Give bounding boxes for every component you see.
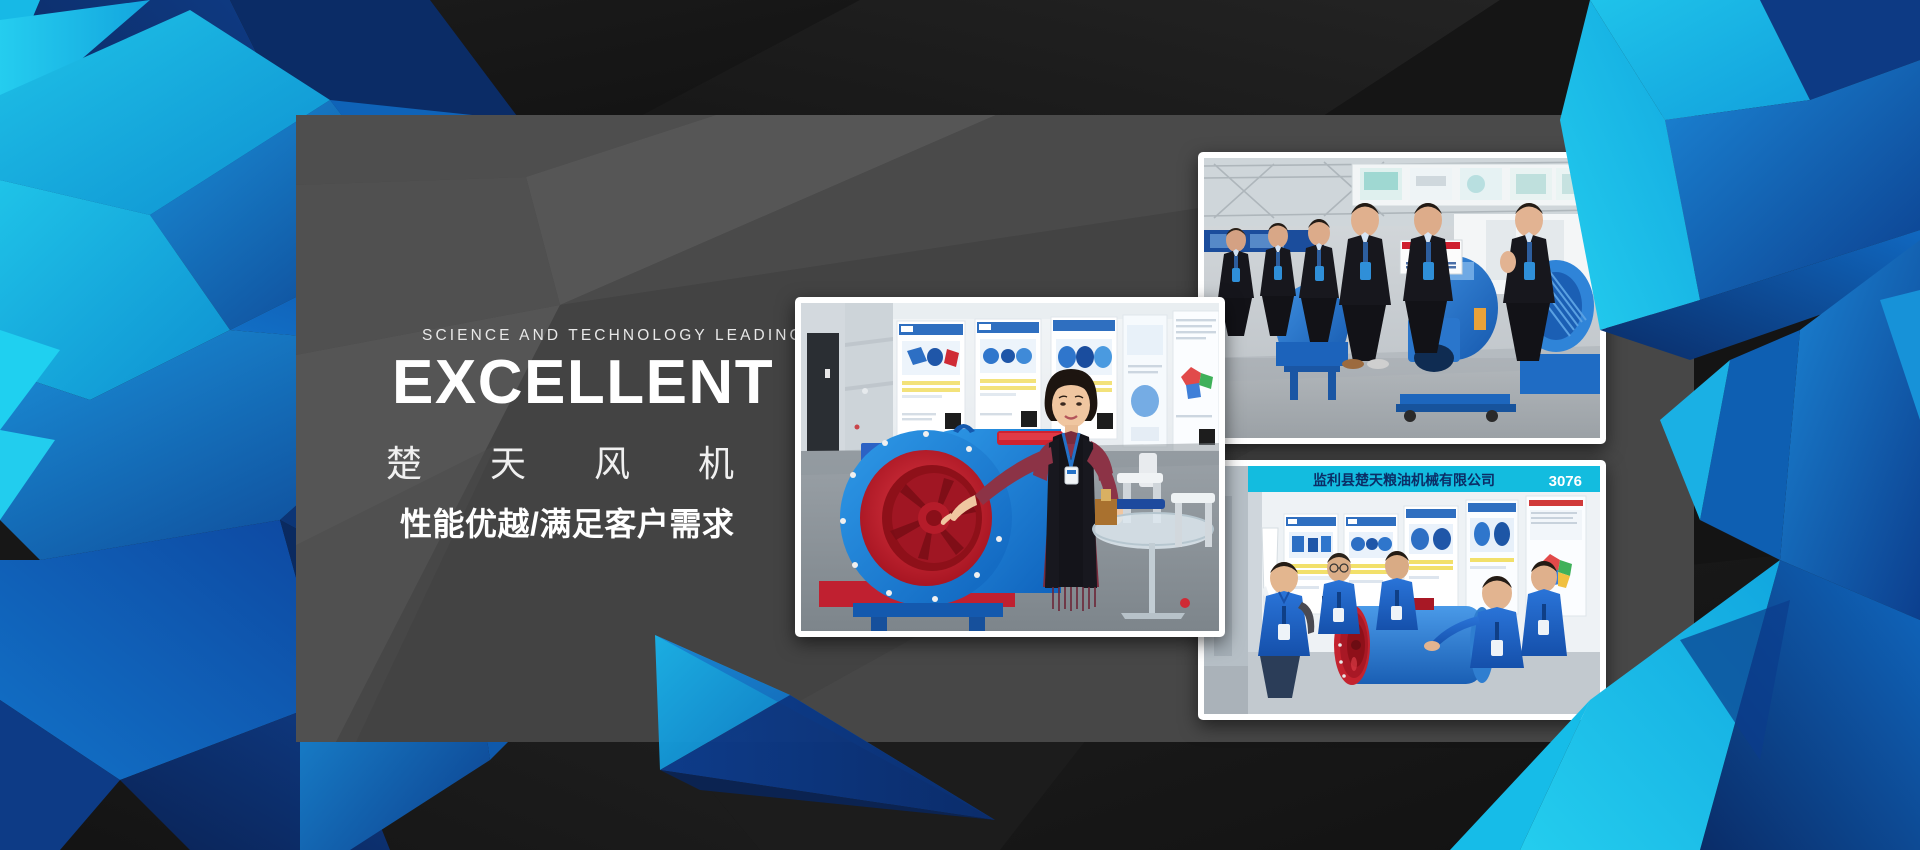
right-polygon-graphic: [0, 0, 1920, 850]
hero-banner: SCIENCE AND TECHNOLOGY LEADING EXCELLENT…: [0, 0, 1920, 850]
